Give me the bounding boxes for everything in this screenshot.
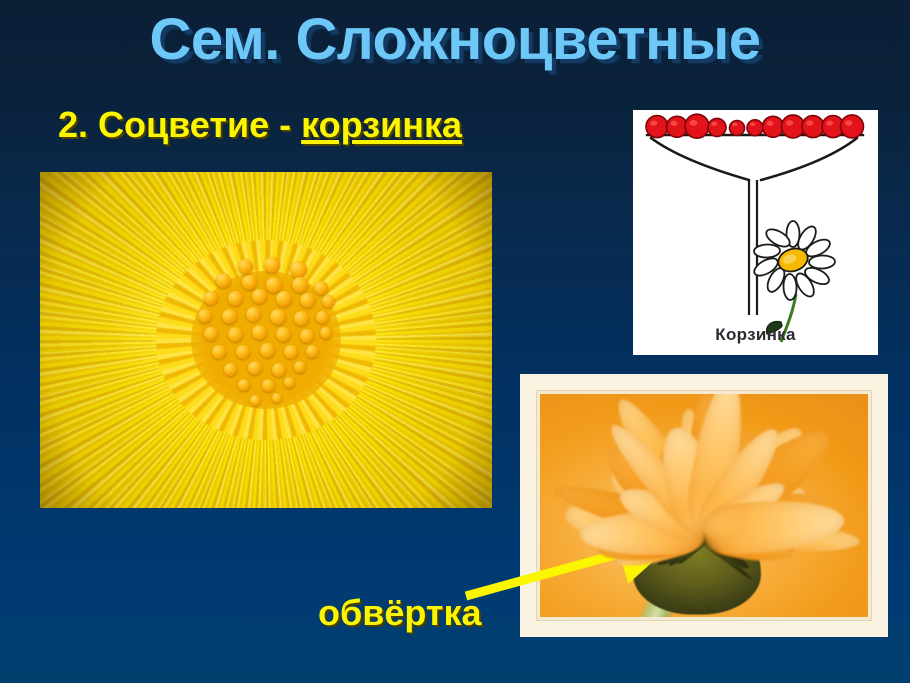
disc-floret — [236, 345, 250, 359]
disc-floret — [294, 361, 306, 373]
floret-highlight — [786, 120, 793, 126]
floret — [708, 118, 726, 136]
floret-highlight — [732, 123, 737, 127]
daisy-illustration — [751, 221, 835, 342]
capitulum-diagram-panel: Корзинка — [633, 110, 878, 355]
gerbera-photo — [537, 391, 871, 620]
disc-floret — [314, 281, 328, 295]
disc-floret — [284, 377, 295, 388]
coltsfoot-flower-photo — [40, 172, 492, 508]
disc-floret — [204, 327, 218, 341]
diagram-caption: Корзинка — [633, 325, 878, 345]
floret-highlight — [711, 122, 717, 126]
subtitle-prefix: 2. Соцветие - — [58, 104, 301, 145]
slide-canvas: Сем. Сложноцветные 2. Соцветие - корзинк… — [0, 0, 910, 683]
floret — [685, 114, 709, 138]
floret — [763, 116, 784, 137]
floret — [782, 115, 805, 138]
disc-floret — [272, 363, 286, 377]
disc-floret — [320, 327, 332, 339]
disc-floret — [238, 379, 250, 391]
individual-florets — [646, 114, 864, 138]
disc-floret — [316, 311, 329, 324]
disc-floret — [204, 291, 218, 305]
floret — [802, 116, 824, 138]
floret-highlight — [826, 121, 833, 126]
disc-floret — [222, 309, 237, 324]
floret-highlight — [766, 121, 773, 126]
disc-floret — [276, 291, 292, 307]
page-title: Сем. Сложноцветные — [0, 6, 910, 73]
capitulum-diagram-svg — [633, 110, 878, 355]
disc-floret — [238, 259, 253, 274]
disc-floret — [216, 273, 231, 288]
floret-highlight — [750, 122, 755, 126]
disc-floret — [224, 363, 237, 376]
subtitle: 2. Соцветие - корзинка — [58, 104, 462, 146]
disc-floret — [228, 327, 243, 342]
disc-floret — [198, 309, 212, 323]
disc-floret — [252, 289, 267, 304]
disc-floret — [272, 393, 282, 403]
disc-floret — [262, 379, 275, 392]
floret — [730, 121, 745, 136]
floret-highlight — [670, 121, 677, 126]
disc-floret — [290, 261, 307, 278]
disc-floret — [292, 277, 308, 293]
annotation-label: обвёртка — [318, 592, 482, 634]
gerbera-image — [540, 394, 868, 617]
disc-floret — [260, 343, 275, 358]
disc-floret — [266, 277, 282, 293]
floret — [747, 120, 763, 136]
disc-floret — [242, 275, 257, 290]
disc-floret — [306, 345, 319, 358]
disc-floret — [264, 257, 280, 273]
disc-floret — [300, 293, 315, 308]
disc-floret — [248, 361, 262, 375]
floret-highlight — [690, 120, 698, 126]
disc-floret — [300, 329, 314, 343]
disc-floret — [246, 307, 261, 322]
disc-florets — [180, 255, 352, 425]
disc-floret — [252, 325, 267, 340]
floret-highlight — [650, 121, 657, 126]
subtitle-keyword: корзинка — [301, 104, 462, 145]
disc-floret — [284, 345, 298, 359]
floret-highlight — [806, 121, 813, 126]
floret — [646, 116, 668, 138]
disc-floret — [228, 291, 243, 306]
disc-floret — [322, 295, 335, 308]
disc-floret — [276, 327, 291, 342]
receptacle-outline — [647, 135, 863, 180]
disc-floret — [270, 309, 286, 325]
gerbera-photo-frame — [520, 374, 888, 637]
floret — [841, 115, 864, 138]
disc-floret — [294, 311, 309, 326]
disc-floret — [250, 395, 261, 406]
disc-floret — [212, 345, 226, 359]
floret-highlight — [845, 120, 852, 126]
